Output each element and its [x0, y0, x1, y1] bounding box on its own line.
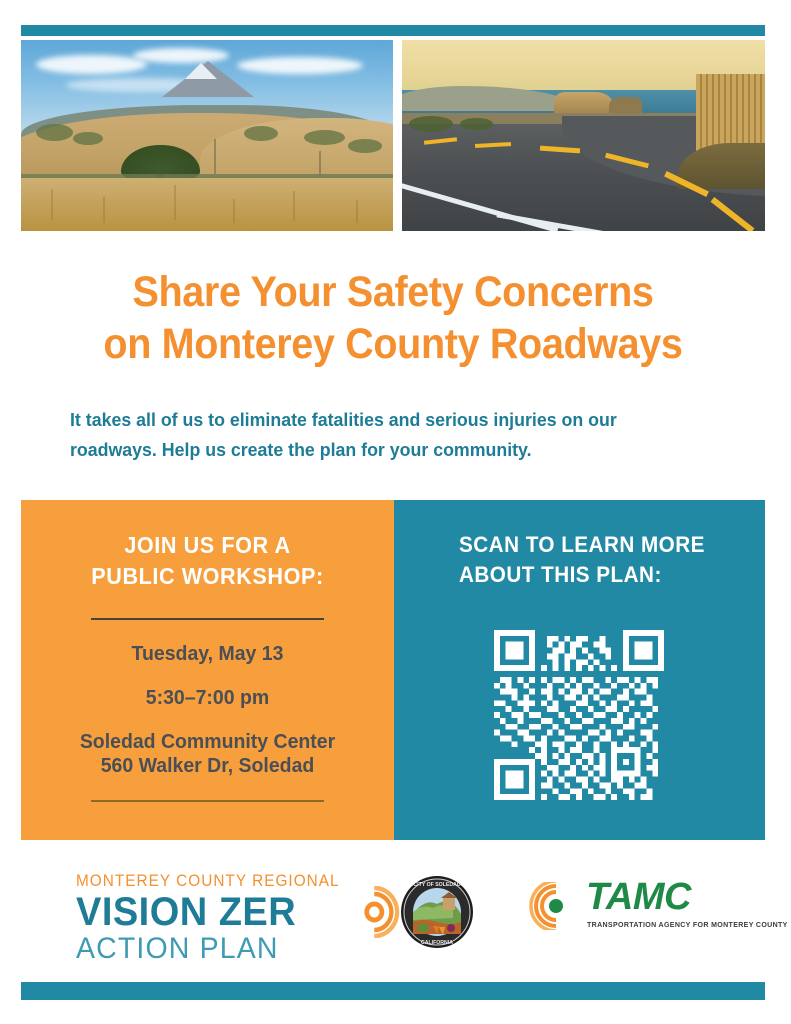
workshop-date: Tuesday, May 13: [30, 642, 384, 666]
tamc-logo: TAMC TRANSPORTATION AGENCY FOR MONTEREY …: [526, 880, 741, 942]
concentric-arcs-icon: [526, 882, 578, 930]
tamc-tagline: TRANSPORTATION AGENCY FOR MONTEREY COUNT…: [587, 920, 788, 929]
workshop-heading-line-1: JOIN US FOR A: [32, 530, 383, 561]
scan-heading-line-2: ABOUT THIS PLAN:: [459, 560, 705, 590]
seal-bottom-text: CALIFORNIA: [421, 940, 453, 946]
vision-zero-main-text: VISION ZER: [76, 890, 296, 934]
top-rule: [21, 25, 765, 36]
workshop-time: 5:30–7:00 pm: [30, 686, 384, 710]
vision-zero-logo: MONTEREY COUNTY REGIONAL VISION ZER ACTI…: [76, 872, 376, 965]
page-title: Share Your Safety Concerns on Monterey C…: [51, 266, 735, 371]
hero-photos: [21, 40, 765, 231]
workshop-location: Soledad Community Center 560 Walker Dr, …: [30, 730, 384, 778]
vision-zero-eyebrow: MONTEREY COUNTY REGIONAL: [76, 872, 355, 891]
scan-heading-line-1: SCAN TO LEARN MORE: [459, 530, 705, 560]
seal-top-text: CITY OF SOLEDAD: [413, 882, 460, 888]
workshop-heading-line-2: PUBLIC WORKSHOP:: [32, 561, 383, 592]
footer-logos: MONTEREY COUNTY REGIONAL VISION ZER ACTI…: [21, 862, 765, 962]
photo-rolling-hills: [21, 40, 393, 231]
info-panels: JOIN US FOR A PUBLIC WORKSHOP: Tuesday, …: [21, 500, 765, 840]
flyer-page: Share Your Safety Concerns on Monterey C…: [0, 0, 791, 1024]
tamc-wordmark: TAMC: [586, 878, 691, 916]
divider-bottom: [91, 800, 324, 802]
headline-line-2: on Monterey County Roadways: [51, 318, 735, 370]
intro-paragraph: It takes all of us to eliminate fataliti…: [70, 405, 704, 465]
scan-heading: SCAN TO LEARN MORE ABOUT THIS PLAN:: [459, 530, 705, 591]
bottom-rule: [21, 982, 765, 1000]
divider-top: [91, 618, 324, 620]
workshop-details: Tuesday, May 13 5:30–7:00 pm Soledad Com…: [30, 642, 384, 778]
target-rings-icon: [355, 886, 404, 938]
workshop-venue: Soledad Community Center: [30, 730, 384, 754]
city-seal: CITY OF SOLEDAD CALIFORNIA: [399, 874, 475, 950]
photo-coastal-highway: [402, 40, 765, 231]
headline-line-1: Share Your Safety Concerns: [51, 266, 735, 318]
workshop-address: 560 Walker Dr, Soledad: [30, 754, 384, 778]
vision-zero-subtext: ACTION PLAN: [76, 933, 361, 965]
workshop-panel: JOIN US FOR A PUBLIC WORKSHOP: Tuesday, …: [21, 500, 394, 840]
vision-zero-wordmark: VISION ZER: [76, 892, 361, 932]
qr-code[interactable]: [494, 630, 664, 800]
workshop-heading: JOIN US FOR A PUBLIC WORKSHOP:: [32, 530, 383, 592]
scan-panel: SCAN TO LEARN MORE ABOUT THIS PLAN:: [394, 500, 765, 840]
